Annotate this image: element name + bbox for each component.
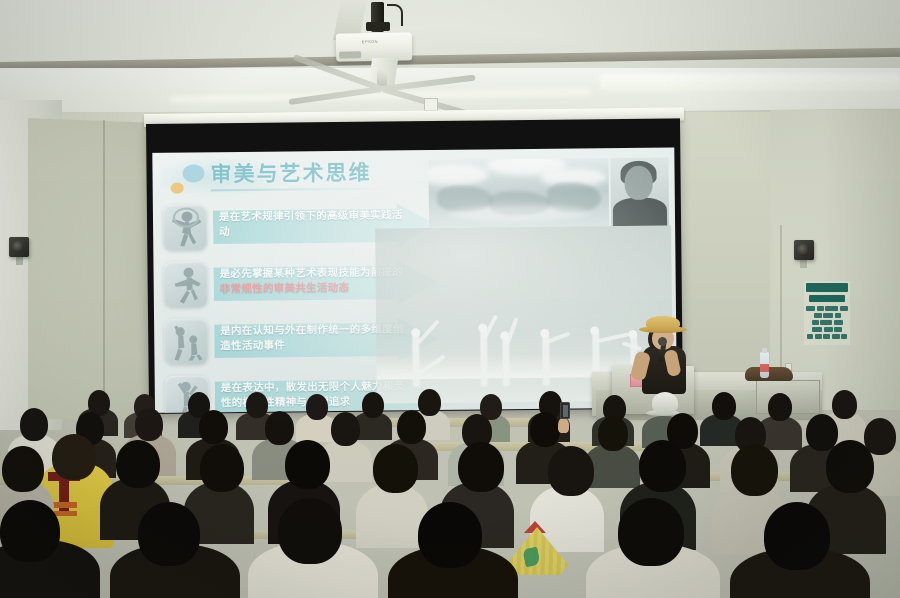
light-switch-icon[interactable] — [424, 98, 438, 111]
bullet-2-accent: 非常规性的审美共生活动态 — [220, 282, 350, 295]
audience-member — [764, 502, 830, 570]
wall-seam-right — [780, 225, 782, 390]
smartphone-icon — [560, 402, 570, 419]
audience-member — [397, 410, 426, 444]
audience-member — [116, 440, 160, 488]
straw-hat-icon — [646, 316, 680, 330]
audience-member — [712, 392, 736, 420]
audience-member — [639, 440, 686, 492]
dancer-silhouette-1-icon — [163, 204, 207, 250]
audience-member — [2, 446, 44, 492]
projector-lens-icon — [339, 51, 361, 58]
microphone-head-icon — [658, 337, 667, 346]
audience-member — [418, 502, 482, 568]
audience-member — [373, 444, 418, 493]
seated-audience — [0, 372, 900, 598]
performer-portrait-photo — [610, 158, 669, 227]
audience-member — [731, 444, 778, 496]
title-dot-blue-icon — [182, 164, 204, 182]
audience-member — [306, 394, 328, 420]
audience-member — [52, 434, 96, 480]
audience-member — [618, 498, 684, 566]
dancer-silhouette-2-icon — [163, 261, 207, 307]
audience-member — [20, 408, 48, 441]
white-cap-attendee — [652, 392, 678, 414]
audience-member — [418, 389, 441, 416]
audience-member — [331, 412, 360, 446]
audience-member — [768, 393, 792, 421]
audience-member — [200, 444, 244, 492]
dancer-svg — [167, 264, 203, 304]
slide-title: 审美与艺术思维 — [210, 157, 371, 189]
audience-member — [458, 442, 504, 492]
audience-member — [806, 414, 838, 451]
wall-speaker-icon — [9, 237, 29, 257]
audience-member — [265, 411, 294, 445]
pull-down-projection-screen: 审美与艺术思维 是在艺术规律引领下的高级审美实践活动 — [146, 118, 683, 414]
audience-member — [135, 408, 163, 441]
title-dot-orange-icon — [171, 183, 184, 194]
landscape-photo — [428, 158, 609, 228]
dancer-svg — [167, 207, 203, 247]
title-underline — [211, 187, 386, 191]
audience-member — [138, 502, 200, 566]
audience-member — [826, 440, 874, 493]
notice-placard — [804, 281, 850, 345]
audience-member — [278, 498, 342, 564]
audience-member — [199, 410, 228, 444]
speaker-bracket — [800, 259, 807, 268]
audience-member — [285, 440, 330, 489]
ceiling-light-icon — [600, 74, 900, 90]
audience-member — [598, 416, 628, 451]
wall-speaker-icon — [794, 240, 814, 260]
audience-member — [246, 392, 268, 418]
speaker-bracket — [16, 256, 23, 265]
audience-member — [530, 412, 560, 447]
audience-member — [548, 446, 594, 496]
dancer-silhouette-3-icon — [164, 318, 208, 364]
audience-member — [832, 390, 857, 419]
wall-seam — [103, 120, 105, 410]
projector-cable — [387, 4, 403, 26]
audience-member — [362, 392, 384, 418]
projector-brand-label: EPSON — [362, 39, 378, 44]
raised-hand — [558, 418, 569, 433]
dancer-svg — [168, 321, 204, 361]
lecture-hall-scene: EPSON 审美与艺术思维 — [0, 0, 900, 598]
audience-member — [0, 500, 60, 562]
